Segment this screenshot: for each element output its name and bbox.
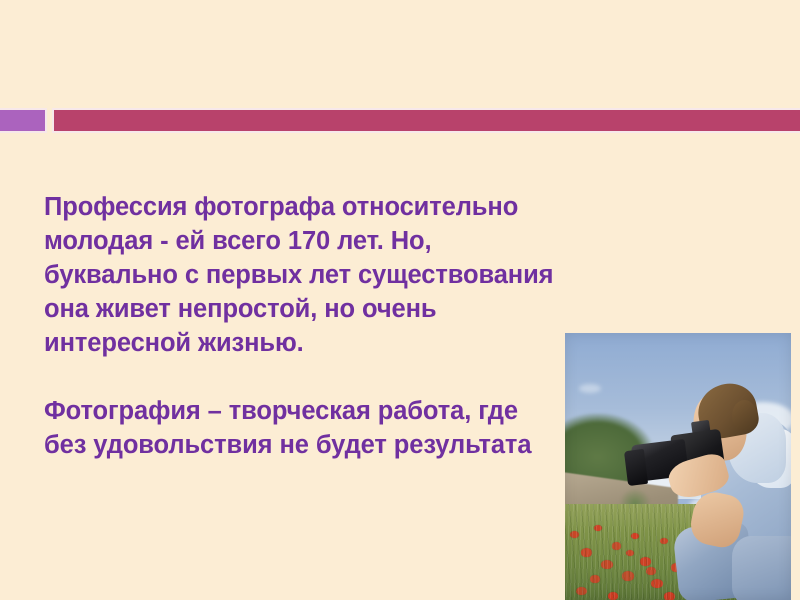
body-line-7: без удовольствия не будет результата [44, 428, 606, 462]
photographer-photo [565, 333, 791, 600]
hair-bun [732, 400, 757, 432]
paragraph-spacer [44, 360, 606, 394]
jeans-leg-back [732, 536, 791, 600]
body-line-3: буквально с первых лет существования [44, 258, 606, 292]
presentation-slide: Профессия фотографа относительно молодая… [0, 0, 800, 600]
slide-body-text: Профессия фотографа относительно молодая… [44, 190, 606, 462]
body-line-2: молодая - ей всего 170 лет. Но, [44, 224, 606, 258]
photo-content [565, 333, 791, 600]
header-accent-bars [0, 108, 800, 133]
accent-bar-small [0, 108, 47, 133]
photographer-figure [565, 333, 791, 600]
body-line-5: интересной жизнью. [44, 326, 606, 360]
body-line-4: она живет непростой, но очень [44, 292, 606, 326]
body-line-1: Профессия фотографа относительно [44, 190, 606, 224]
body-line-6: Фотография – творческая работа, где [44, 394, 606, 428]
accent-bar-wide [52, 108, 800, 133]
